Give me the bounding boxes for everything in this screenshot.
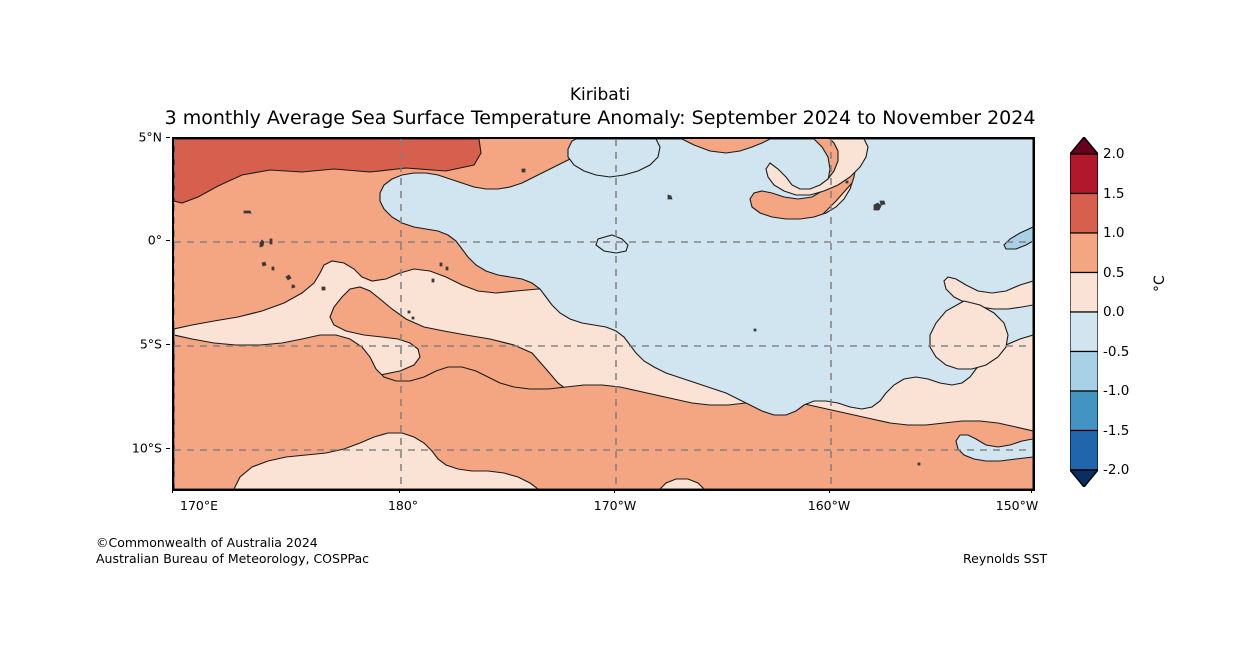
footer-dataset: Reynolds SST bbox=[963, 551, 1047, 567]
xtick-mark-2 bbox=[614, 489, 615, 493]
ytick-label-2: 5°S bbox=[140, 337, 162, 352]
y-axis-tick-labels: 5°N 0° 5°S 10°S bbox=[96, 137, 162, 487]
colorbar-tick-1: 1.5 bbox=[1103, 186, 1124, 202]
colorbar-tick-3: 0.5 bbox=[1103, 265, 1124, 281]
colorbar-tick-5: -0.5 bbox=[1103, 344, 1129, 360]
figure-canvas: Kiribati 3 monthly Average Sea Surface T… bbox=[0, 0, 1258, 667]
colorbar-band-minus0p5-0p0 bbox=[1070, 312, 1098, 352]
colorbar-under-arrow bbox=[1070, 470, 1098, 487]
copyright-text: ©Commonwealth of Australia 2024 bbox=[96, 535, 369, 551]
footer-attribution: ©Commonwealth of Australia 2024 Australi… bbox=[96, 535, 369, 567]
ytick-label-3: 10°S bbox=[132, 441, 162, 456]
ytick-mark-3 bbox=[166, 448, 170, 449]
agency-text: Australian Bureau of Meteorology, COSPPa… bbox=[96, 551, 369, 567]
colorbar-band-minus2p0-minus1p5 bbox=[1070, 431, 1098, 471]
chart-subtitle: 3 monthly Average Sea Surface Temperatur… bbox=[0, 106, 1200, 130]
xtick-label-4: 150°W bbox=[996, 498, 1038, 513]
xtick-label-3: 160°W bbox=[808, 498, 850, 513]
colorbar-tick-labels: 2.0 1.5 1.0 0.5 0.0 -0.5 -1.0 -1.5 -2.0 bbox=[1103, 137, 1149, 487]
colorbar-tick-2: 1.0 bbox=[1103, 225, 1124, 241]
xtick-label-2: 170°W bbox=[594, 498, 636, 513]
colorbar-band-1p0-1p5 bbox=[1070, 194, 1098, 234]
sst-anomaly-contour-map bbox=[174, 139, 1033, 489]
ytick-mark-1 bbox=[166, 240, 170, 241]
colorbar-tick-0: 2.0 bbox=[1103, 146, 1124, 162]
xtick-mark-0 bbox=[172, 489, 173, 493]
ytick-label-1: 0° bbox=[148, 233, 162, 248]
colorbar-over-arrow bbox=[1070, 137, 1098, 154]
colorbar-band-0p0-0p5 bbox=[1070, 273, 1098, 313]
colorbar-band-minus1p5-minus1p0 bbox=[1070, 391, 1098, 431]
colorbar-band-0p5-1p0 bbox=[1070, 233, 1098, 273]
colorbar-tick-4: 0.0 bbox=[1103, 304, 1124, 320]
colorbar-tick-8: -2.0 bbox=[1103, 462, 1129, 478]
colorbar-tick-6: -1.0 bbox=[1103, 383, 1129, 399]
ytick-label-0: 5°N bbox=[138, 130, 162, 145]
page-title: Kiribati bbox=[0, 84, 1200, 106]
x-axis-tick-labels: 170°E 180° 170°W 160°W 150°W bbox=[172, 498, 1031, 518]
colorbar-band-1p5-2p0 bbox=[1070, 154, 1098, 194]
xtick-mark-1 bbox=[399, 489, 400, 493]
map-plot-area bbox=[172, 137, 1035, 491]
ytick-mark-2 bbox=[166, 344, 170, 345]
title-block: Kiribati 3 monthly Average Sea Surface T… bbox=[0, 84, 1200, 130]
xtick-mark-4 bbox=[1031, 489, 1032, 493]
xtick-label-0: 170°E bbox=[180, 498, 218, 513]
colorbar-band-minus1p0-minus0p5 bbox=[1070, 352, 1098, 392]
xtick-label-1: 180° bbox=[388, 498, 418, 513]
colorbar-unit-label: °C bbox=[1152, 275, 1168, 292]
colorbar bbox=[1070, 137, 1098, 487]
colorbar-tick-7: -1.5 bbox=[1103, 423, 1129, 439]
ytick-mark-0 bbox=[166, 137, 170, 138]
xtick-mark-3 bbox=[829, 489, 830, 493]
